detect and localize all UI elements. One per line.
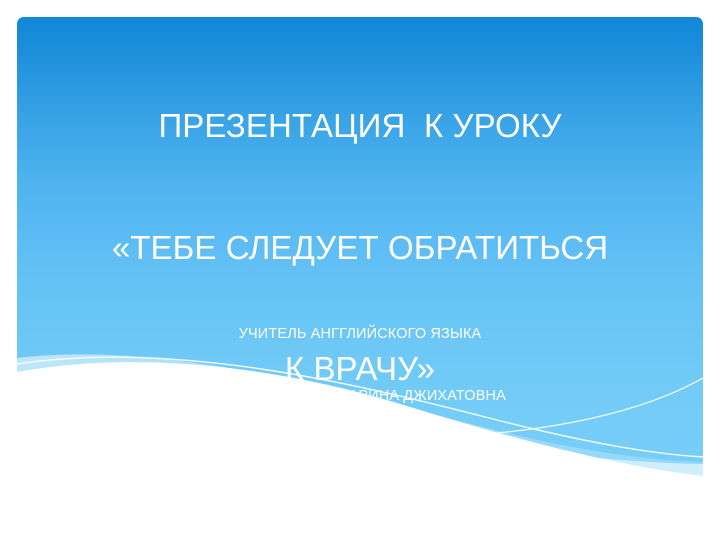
subtitle-line-1: УЧИТЕЛЬ АНГГЛИЙСКОГО ЯЗЫКА xyxy=(17,324,703,345)
slide-text-layer: ПРЕЗЕНТАЦИЯ К УРОКУ «ТЕБЕ СЛЕДУЕТ ОБРАТИ… xyxy=(17,17,703,480)
presentation-slide: ПРЕЗЕНТАЦИЯ К УРОКУ «ТЕБЕ СЛЕДУЕТ ОБРАТИ… xyxy=(0,0,720,540)
title-line-2: «ТЕБЕ СЛЕДУЕТ ОБРАТИТЬСЯ xyxy=(17,228,703,269)
title-line-4: 6 класс (УМК «ENGLISH -6» xyxy=(17,471,703,512)
subtitle-line-2: КАЛЬМЕНТЬЕВА МАРИНА ДЖИХАТОВНА xyxy=(17,386,703,407)
slide-subtitle: УЧИТЕЛЬ АНГГЛИЙСКОГО ЯЗЫКА КАЛЬМЕНТЬЕВА … xyxy=(17,283,703,447)
title-line-1: ПРЕЗЕНТАЦИЯ К УРОКУ xyxy=(17,106,703,147)
